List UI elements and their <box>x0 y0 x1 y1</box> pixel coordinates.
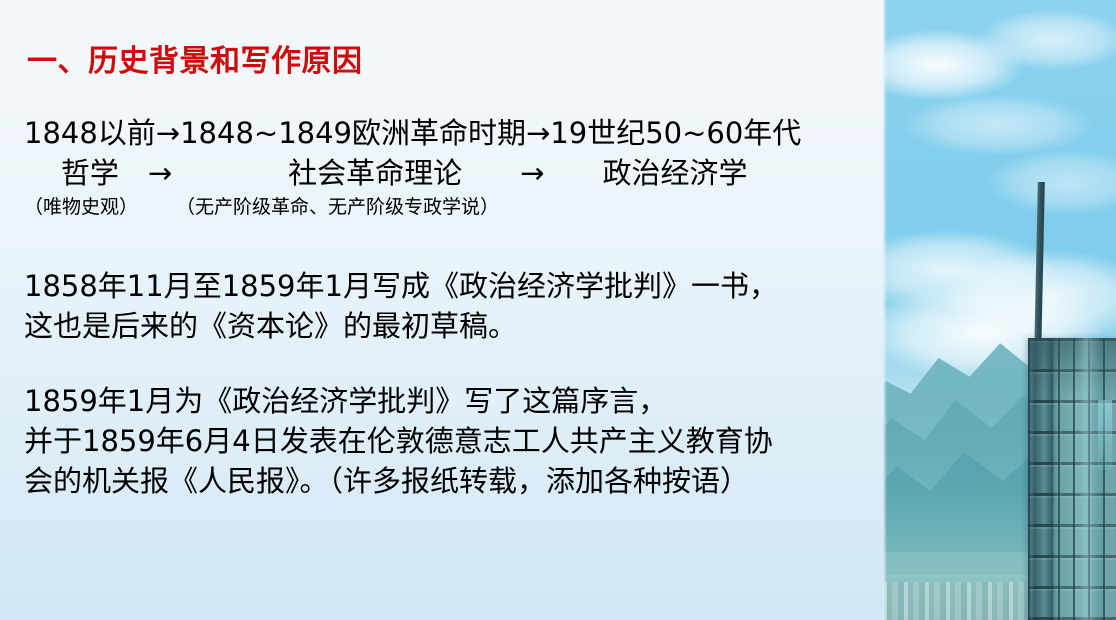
publication-line-2: 并于1859年6月4日发表在伦敦德意志工人共产主义教育协 <box>24 421 773 461</box>
publication-block: 1859年1月为《政治经济学批判》写了这篇序言， 并于1859年6月4日发表在伦… <box>24 381 773 501</box>
glass-highlight <box>1076 338 1102 620</box>
publication-line-1: 1859年1月为《政治经济学批判》写了这篇序言， <box>24 381 773 421</box>
timeline-block: 1848以前→1848~1849欧洲革命时期→19世纪50~60年代 哲学 → … <box>24 113 801 221</box>
decorative-photo <box>883 0 1116 620</box>
slide-canvas: 一、历史背景和写作原因 1848以前→1848~1849欧洲革命时期→19世纪5… <box>0 0 1116 620</box>
publication-line-3: 会的机关报《人民报》。（许多报纸转载，添加各种按语） <box>24 461 773 501</box>
manuscript-block: 1858年11月至1859年1月写成《政治经济学批判》一书， 这也是后来的《资本… <box>24 266 778 346</box>
glass-sheen <box>1098 400 1112 470</box>
page-title: 一、历史背景和写作原因 <box>27 36 363 80</box>
timeline-line-subjects: 哲学 → 社会革命理论 → 政治经济学 <box>24 153 801 193</box>
timeline-line-annotations: （唯物史观） （无产阶级革命、无产阶级专政学说） <box>24 193 801 221</box>
manuscript-line-1: 1858年11月至1859年1月写成《政治经济学批判》一书， <box>24 266 778 306</box>
building-crown-shadow <box>1028 338 1116 396</box>
photo-edge-fade <box>883 0 887 620</box>
slide-content: 一、历史背景和写作原因 1848以前→1848~1849欧洲革命时期→19世纪5… <box>0 0 883 620</box>
timeline-line-periods: 1848以前→1848~1849欧洲革命时期→19世纪50~60年代 <box>24 113 801 153</box>
manuscript-line-2: 这也是后来的《资本论》的最初草稿。 <box>24 306 778 346</box>
skyscraper-building <box>1028 338 1116 620</box>
